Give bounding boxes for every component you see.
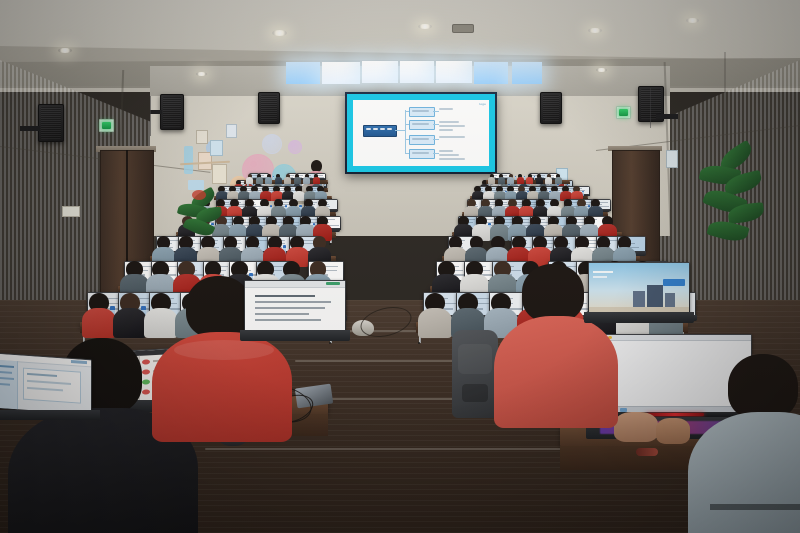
slide-canvas: logo	[353, 100, 489, 166]
laptop-mid-left[interactable]	[240, 280, 350, 342]
audience-member	[284, 174, 291, 185]
audience-member	[303, 174, 310, 185]
floor-seam	[205, 448, 595, 450]
wall-switch-plate-left[interactable]	[62, 206, 80, 217]
ceiling-troffer-light	[322, 62, 360, 84]
audience-member	[82, 293, 116, 342]
ceiling-downlight	[596, 68, 607, 72]
cable-conduit-left	[150, 96, 151, 136]
audience-member	[536, 174, 543, 185]
desk-caster	[418, 342, 420, 344]
audience-member	[545, 174, 552, 185]
mindmap-leaf-text	[439, 125, 465, 127]
mindmap-branch-node	[409, 120, 435, 130]
laptop-mid-right[interactable]	[584, 262, 694, 324]
audience-member	[498, 174, 505, 185]
audience-member	[517, 174, 524, 185]
audience-member	[246, 174, 253, 185]
hand-right	[656, 418, 690, 444]
audience-member	[275, 174, 282, 185]
audience-member	[256, 174, 263, 185]
speaker-right-wall	[540, 92, 562, 124]
ceiling-troffer-light	[512, 62, 542, 84]
audience-member	[313, 174, 320, 185]
audience-member	[294, 174, 301, 185]
ceiling-downlight	[686, 18, 699, 23]
ceiling-troffer-light	[286, 62, 320, 84]
audience-member	[488, 174, 495, 185]
mindmap-root-node	[363, 125, 397, 137]
mindmap-branch-node	[409, 135, 435, 145]
mindmap-connector	[405, 110, 406, 154]
mindmap-leaf-text	[439, 158, 465, 160]
seminar-room-photo: logo	[0, 0, 800, 533]
cable-conduit-right	[650, 88, 651, 128]
ceiling-vent	[452, 24, 474, 33]
mindmap-branch-node	[409, 149, 435, 159]
ceiling-troffer-light	[400, 61, 434, 83]
audience-member	[113, 293, 147, 342]
ceiling-downlight	[418, 24, 432, 29]
audience-member	[418, 293, 452, 342]
projection-screen: logo	[345, 92, 497, 174]
ceiling-downlight	[196, 72, 207, 76]
wall-panel-right	[666, 150, 678, 168]
speaker-bracket-right	[656, 114, 678, 119]
mindmap-leaf-text	[439, 154, 459, 156]
ceiling-troffer-light	[362, 61, 398, 83]
audience-member	[555, 174, 562, 185]
mural-bubble	[288, 140, 302, 154]
ceiling-troffer-light	[474, 62, 508, 84]
mindmap-leaf-text	[439, 129, 453, 131]
plant-right	[698, 148, 774, 268]
ceiling-downlight	[588, 28, 602, 33]
hand-left	[614, 412, 658, 442]
slide-logo: logo	[480, 102, 486, 106]
audience-member-foreground-right	[694, 396, 800, 533]
speaker-bracket-front-left	[150, 110, 162, 114]
audience-member	[507, 174, 514, 185]
ceiling-downlight	[272, 30, 287, 36]
speaker-bracket-left	[20, 126, 40, 131]
mindmap-leaf-text	[439, 150, 453, 152]
laptop-foreground-left-blue[interactable]	[0, 356, 100, 422]
projection-screen-cyan-border: logo	[347, 94, 495, 172]
audience-member	[265, 174, 272, 185]
backpack	[452, 330, 498, 418]
mindmap-branch-node	[409, 107, 435, 117]
speaker-left-wall	[38, 104, 64, 142]
mindmap-leaf-text	[439, 136, 465, 138]
exit-sign-left-icon	[99, 119, 114, 132]
plant-left	[176, 186, 228, 246]
mindmap-leaf-text	[439, 108, 453, 110]
mural-bubble	[262, 134, 282, 154]
mindmap-leaf-text	[439, 121, 459, 123]
audience-member	[526, 174, 533, 185]
bracelet	[636, 448, 658, 456]
desk-caster	[329, 342, 331, 344]
exit-sign-right-icon	[616, 106, 631, 119]
ceiling-troffer-light	[436, 61, 472, 83]
ceiling-downlight	[58, 48, 72, 53]
